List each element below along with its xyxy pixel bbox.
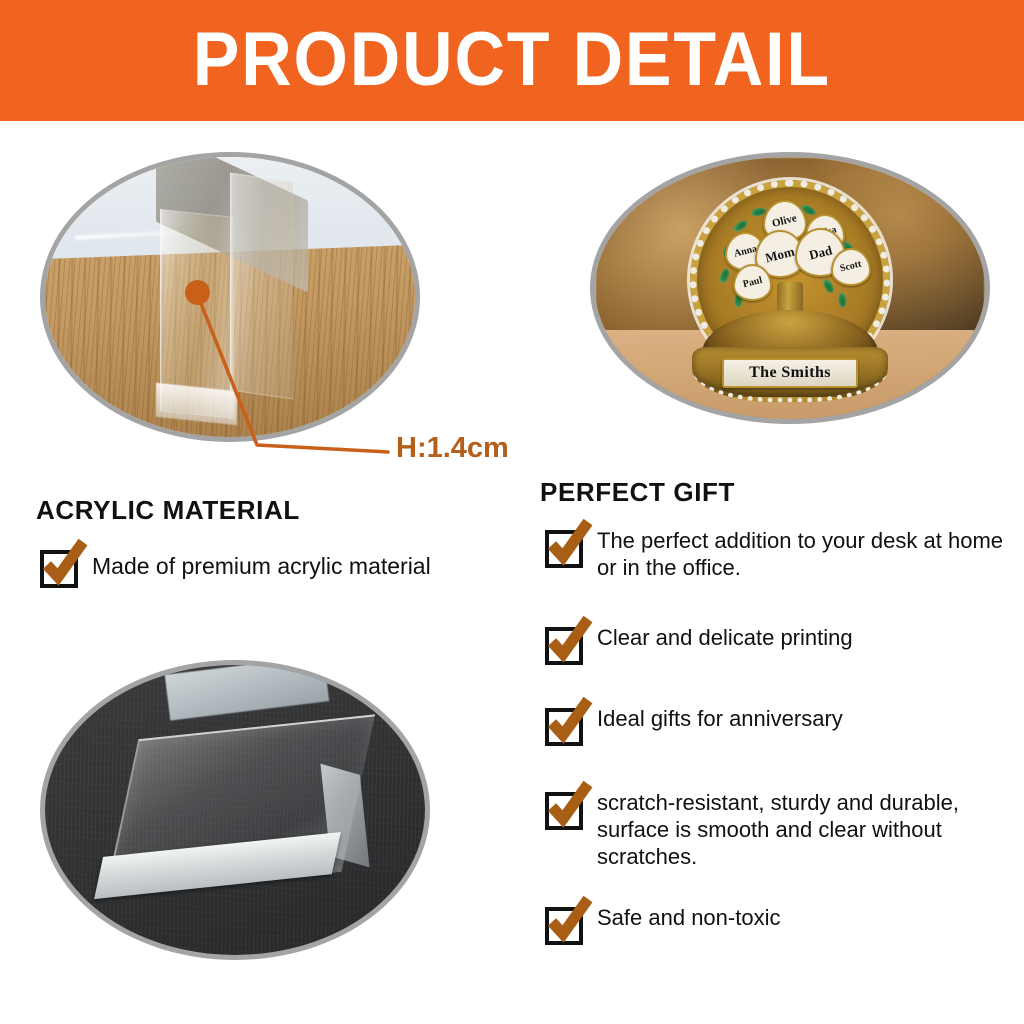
checkbox — [545, 792, 583, 830]
acrylic-block-photo — [40, 660, 430, 960]
acrylic-side-face — [230, 172, 293, 399]
check-icon — [543, 614, 595, 666]
check-icon — [543, 894, 595, 946]
bullet-text: Ideal gifts for anniversary — [597, 706, 843, 733]
bullet-text: The perfect addition to your desk at hom… — [597, 528, 1005, 582]
page-title: PRODUCT DETAIL — [193, 22, 831, 98]
check-icon — [543, 695, 595, 747]
checkbox — [545, 627, 583, 665]
check-icon — [543, 517, 595, 569]
bullet-gift-4: Safe and non-toxic — [545, 905, 1005, 945]
bullet-gift-0: The perfect addition to your desk at hom… — [545, 528, 1005, 582]
edge-photo-scene — [45, 157, 415, 437]
bullet-gift-3: scratch-resistant, sturdy and durable, s… — [545, 790, 1015, 870]
name-heart: Scott — [831, 248, 871, 286]
acrylic-edge-photo — [40, 152, 420, 442]
product-detail-infographic: PRODUCT DETAIL — [0, 0, 1024, 1024]
family-tree-product-photo: Olive Luisa Anna Mom Dad Scott P — [590, 152, 990, 424]
bullet-text: Made of premium acrylic material — [92, 552, 431, 580]
height-callout-label: H:1.4cm — [396, 432, 509, 465]
checkbox — [545, 907, 583, 945]
bullet-text: Clear and delicate printing — [597, 625, 853, 652]
checkbox — [545, 530, 583, 568]
section-title-perfect-gift: PERFECT GIFT — [540, 477, 735, 508]
bullet-gift-2: Ideal gifts for anniversary — [545, 706, 1005, 746]
callout-anchor-dot — [185, 280, 210, 305]
bullet-text: scratch-resistant, sturdy and durable, s… — [597, 790, 1015, 870]
name-heart: Paul — [733, 264, 772, 301]
section-title-acrylic-material: ACRYLIC MATERIAL — [36, 495, 300, 526]
bullet-gift-1: Clear and delicate printing — [545, 625, 1005, 665]
bullet-acrylic-0: Made of premium acrylic material — [40, 548, 510, 588]
bullet-text: Safe and non-toxic — [597, 905, 780, 932]
family-tree-ornament: Olive Luisa Anna Mom Dad Scott P — [675, 180, 905, 406]
check-icon — [543, 779, 595, 831]
check-icon — [38, 537, 90, 589]
checkbox — [40, 550, 78, 588]
checkbox — [545, 708, 583, 746]
header-banner: PRODUCT DETAIL — [0, 0, 1024, 121]
family-nameplate: The Smiths — [722, 358, 858, 388]
block-photo-scene — [45, 665, 425, 955]
nameplate-text: The Smiths — [749, 364, 831, 382]
product-photo-scene: Olive Luisa Anna Mom Dad Scott P — [595, 157, 985, 419]
